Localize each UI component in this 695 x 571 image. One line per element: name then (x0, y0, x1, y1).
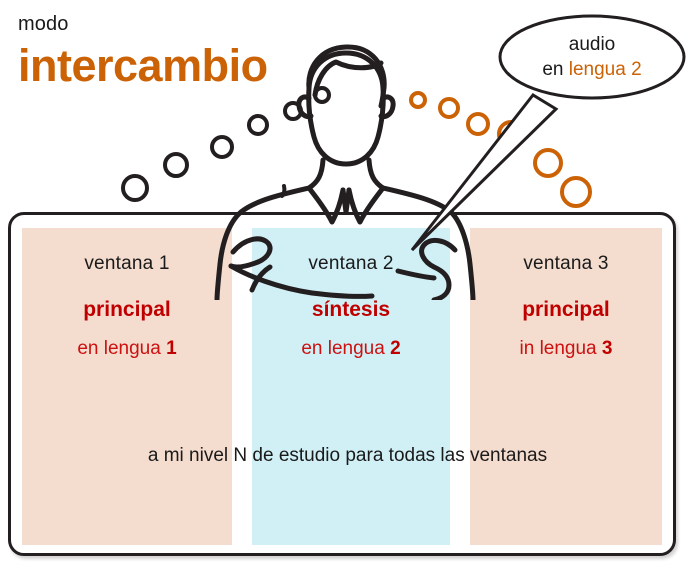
speck-mark (282, 186, 284, 196)
window-language-prefix-2: en lengua (301, 338, 390, 359)
bubble-black-5 (285, 103, 301, 119)
window-label-2: ventana 2 (252, 254, 450, 273)
window-language-1: en lengua 1 (22, 339, 232, 358)
black-bubble-trail (123, 88, 329, 200)
window-language-prefix-1: en lengua (77, 338, 166, 359)
window-language-number-2: 2 (390, 338, 401, 359)
window-column-1[interactable]: ventana 1 principal en lengua 1 (22, 228, 232, 545)
footer-note: a mi nivel N de estudio para todas las v… (0, 446, 695, 465)
speech-bubble-line-2-prefix: en (542, 59, 568, 80)
mode-label: modo (18, 14, 268, 34)
bubble-black-3 (212, 137, 232, 157)
speech-bubble-line-1: audio (569, 32, 616, 57)
window-language-number-1: 1 (166, 338, 177, 359)
bubble-black-1 (123, 176, 147, 200)
speech-bubble-text: audio en lengua 2 (497, 13, 687, 101)
window-label-3: ventana 3 (470, 254, 662, 273)
window-role-2: síntesis (252, 299, 450, 320)
bubble-orange-6 (562, 178, 590, 206)
orange-bubble-trail (411, 93, 590, 206)
window-language-2: en lengua 2 (252, 339, 450, 358)
bubble-black-4 (249, 116, 267, 134)
bubble-orange-3 (468, 114, 488, 134)
bubble-orange-4 (499, 122, 523, 146)
window-column-3[interactable]: ventana 3 principal in lengua 3 (470, 228, 662, 545)
bubble-orange-1 (411, 93, 425, 107)
bubble-orange-5 (535, 150, 561, 176)
bubble-orange-2 (440, 99, 458, 117)
speech-bubble-line-2-highlight: lengua 2 (569, 59, 642, 80)
window-column-2[interactable]: ventana 2 síntesis en lengua 2 (252, 228, 450, 545)
window-language-3: in lengua 3 (470, 339, 662, 358)
window-role-1: principal (22, 299, 232, 320)
window-label-1: ventana 1 (22, 254, 232, 273)
bubble-black-2 (165, 154, 187, 176)
speech-bubble: audio en lengua 2 (497, 13, 687, 101)
window-role-3: principal (470, 299, 662, 320)
window-language-number-3: 3 (602, 338, 613, 359)
page-title: intercambio (18, 42, 268, 89)
bubble-black-6 (315, 88, 329, 102)
page-header: modo intercambio (18, 14, 268, 89)
speech-bubble-line-2: en lengua 2 (542, 57, 641, 82)
window-language-prefix-3: in lengua (520, 338, 602, 359)
